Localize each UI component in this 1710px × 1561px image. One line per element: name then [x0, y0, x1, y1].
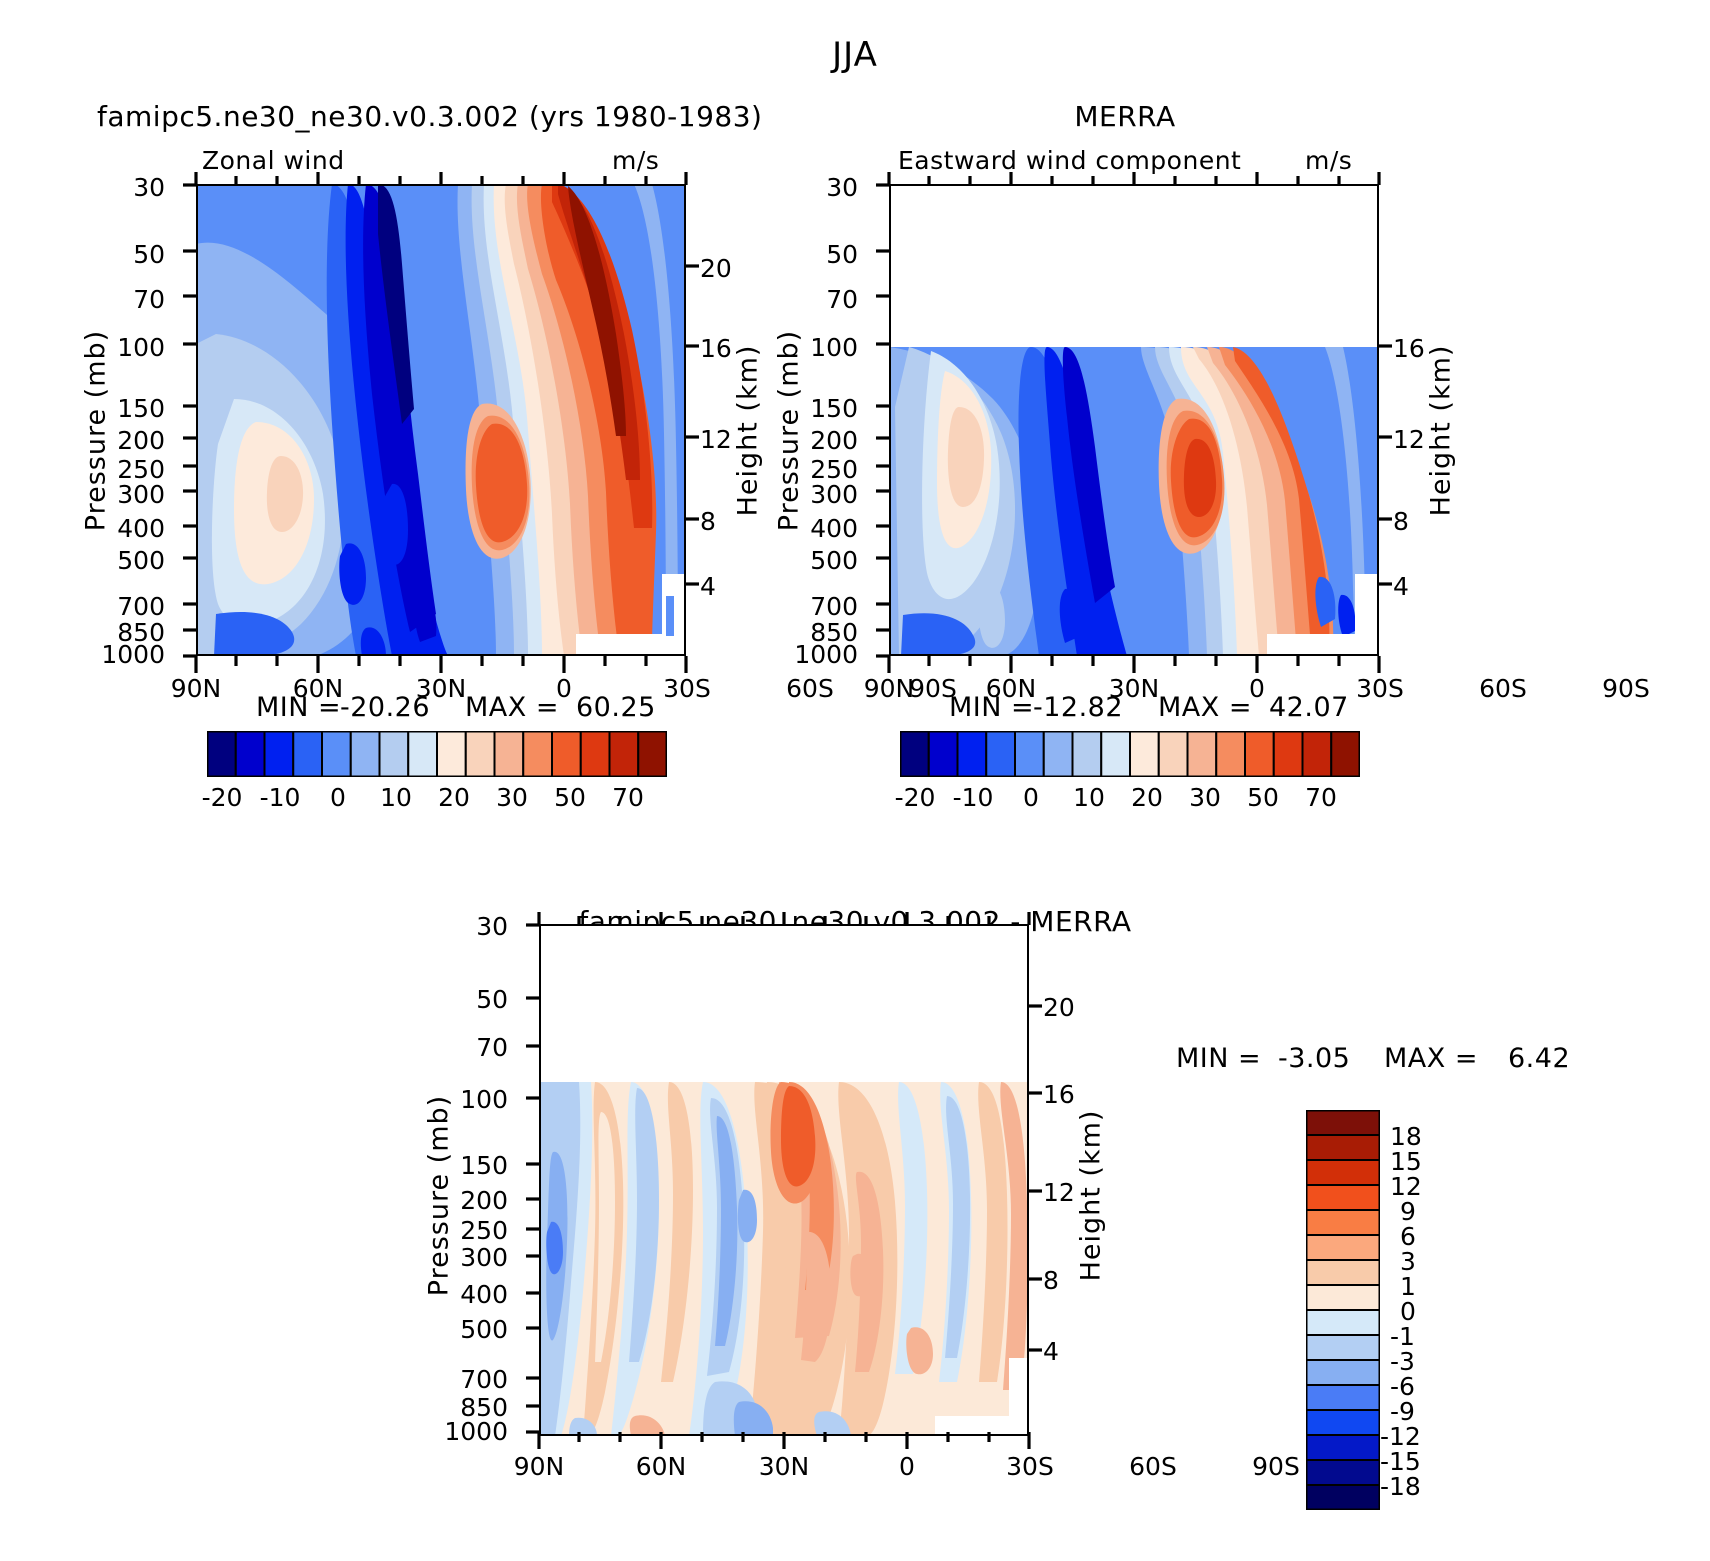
model-xtick: 60S [770, 674, 850, 703]
diff-xtick: 30S [990, 1452, 1070, 1481]
cbar-tick: 10 [366, 783, 426, 812]
cbar-tick: 70 [1291, 783, 1351, 812]
model-xtick: 30S [647, 674, 727, 703]
model-axes-ticks [150, 170, 750, 690]
diff-min-label: MIN = [1176, 1043, 1261, 1074]
cbar-tick: -10 [250, 783, 310, 812]
diff-max-label: MAX = [1384, 1043, 1478, 1074]
diff-min-value: -3.05 [1278, 1043, 1350, 1074]
obs-colorbar-labels: -20 -10 0 10 20 30 50 70 [893, 783, 1367, 817]
obs-max-label: MAX = [1158, 692, 1252, 723]
model-xtick: 90N [156, 674, 236, 703]
obs-xtick: 30S [1340, 674, 1420, 703]
model-min-value: -20.26 [340, 692, 430, 723]
obs-axes-ticks [843, 170, 1443, 690]
obs-ytick: 1000 [741, 640, 858, 669]
diff-ytick: 1000 [391, 1417, 508, 1446]
cbar-tick: 30 [482, 783, 542, 812]
obs-max-value: 42.07 [1269, 692, 1349, 723]
cbar-tick: 70 [598, 783, 658, 812]
diff-xtick: 60N [621, 1452, 701, 1481]
figure-suptitle: JJA [0, 35, 1710, 75]
model-max-label: MAX = [465, 692, 559, 723]
diff-xtick: 0 [867, 1452, 947, 1481]
diff-colorbar[interactable] [1306, 1110, 1380, 1510]
obs-min-label: MIN = [949, 692, 1034, 723]
cbar-tick: 20 [1117, 783, 1177, 812]
obs-min-value: -12.82 [1033, 692, 1123, 723]
obs-xtick: 90N [849, 674, 929, 703]
model-colorbar[interactable] [207, 731, 667, 777]
model-panel-title: famipc5.ne30_ne30.v0.3.002 (yrs 1980-198… [97, 100, 762, 133]
model-max-value: 60.25 [576, 692, 656, 723]
cbar-tick: 50 [1233, 783, 1293, 812]
cbar-tick: -20 [885, 783, 945, 812]
model-colorbar-labels: -20 -10 0 10 20 30 50 70 [200, 783, 674, 817]
model-ytick: 1000 [48, 640, 165, 669]
obs-panel-title: MERRA [975, 100, 1275, 133]
cbar-tick: 20 [424, 783, 484, 812]
diff-xtick: 90S [1236, 1452, 1316, 1481]
cbar-tick: -18 [1380, 1472, 1421, 1501]
cbar-tick: 50 [540, 783, 600, 812]
cbar-tick: 30 [1175, 783, 1235, 812]
diff-axes-ticks [493, 910, 1093, 1470]
diff-xtick: 60S [1113, 1452, 1193, 1481]
cbar-tick: 0 [308, 783, 368, 812]
cbar-tick: -10 [943, 783, 1003, 812]
cbar-tick: 0 [1001, 783, 1061, 812]
diff-xtick: 90N [499, 1452, 579, 1481]
cbar-tick: -20 [192, 783, 252, 812]
diff-xtick: 30N [744, 1452, 824, 1481]
cbar-tick: 10 [1059, 783, 1119, 812]
obs-xtick: 90S [1586, 674, 1666, 703]
model-min-label: MIN = [256, 692, 341, 723]
obs-colorbar[interactable] [900, 731, 1360, 777]
obs-xtick: 60S [1463, 674, 1543, 703]
diff-max-value: 6.42 [1508, 1043, 1570, 1074]
